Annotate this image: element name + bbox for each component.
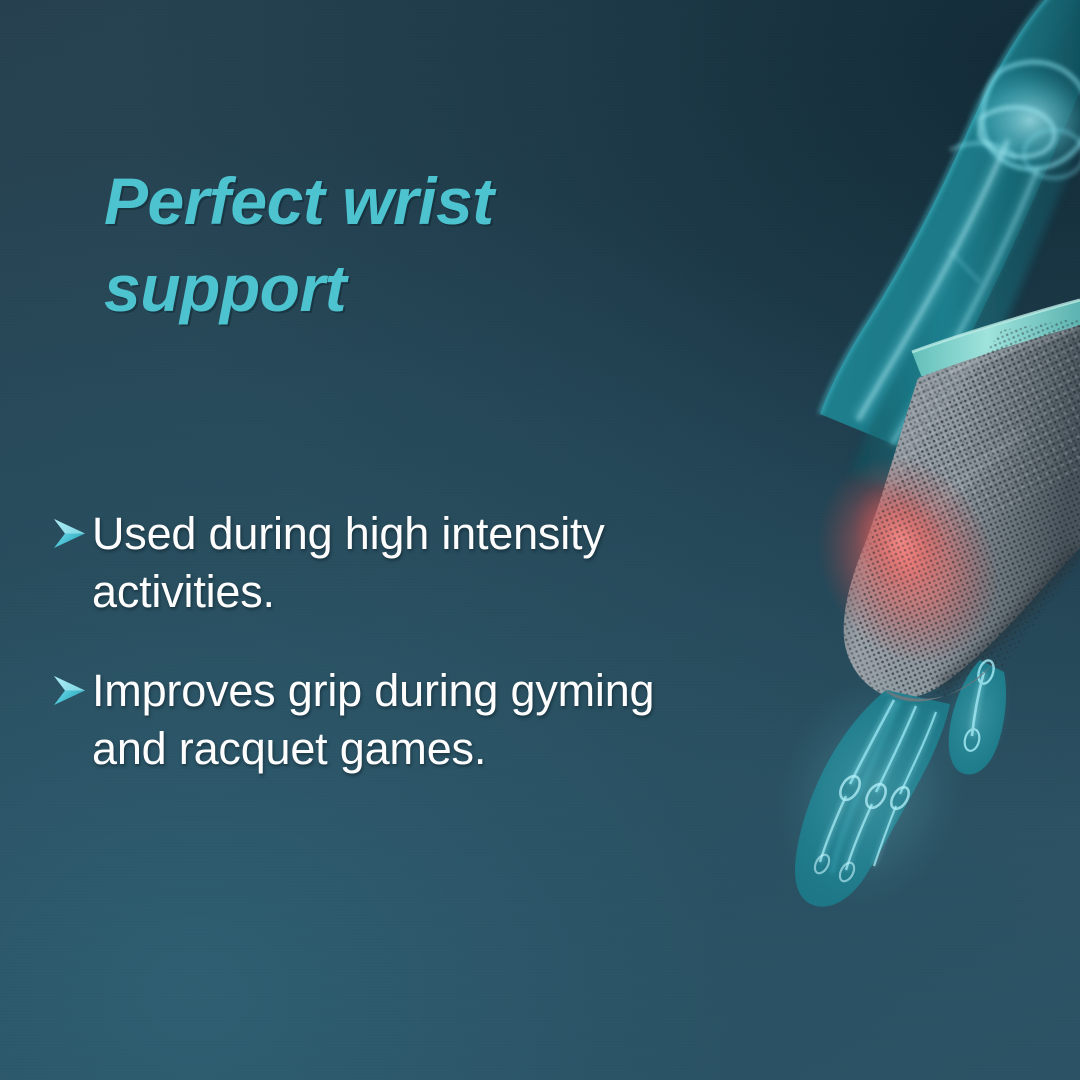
list-item: Improves grip during gyming and racquet … <box>52 662 692 777</box>
benefits-list: Used during high intensity activities. <box>52 505 692 819</box>
arrowhead-icon <box>52 674 92 708</box>
page-title-line-2: support <box>104 245 664 332</box>
forearm-bones <box>858 140 1038 444</box>
sleeve-knit-overlay <box>800 320 1080 720</box>
list-item-label: Used during high intensity activities. <box>92 505 692 620</box>
forearm-silhouette <box>820 0 1080 500</box>
sleeve-palm-edge <box>882 662 994 702</box>
pain-glow-marker <box>783 425 1032 695</box>
xray-arm-illustration <box>650 0 1080 1000</box>
sleeve-cuff-band <box>912 300 1080 388</box>
page-title: Perfect wrist support <box>104 158 664 332</box>
xray-thumb <box>930 648 1022 783</box>
elbow-joint-bones <box>950 62 1080 178</box>
poster-canvas: Perfect wrist support Used <box>0 0 1080 1080</box>
list-item: Used during high intensity activities. <box>52 505 692 620</box>
list-item-label: Improves grip during gyming and racquet … <box>92 662 692 777</box>
xray-hand <box>747 647 996 932</box>
wrist-support-sleeve <box>844 325 1080 698</box>
page-title-line-1: Perfect wrist <box>104 158 664 245</box>
arrowhead-icon <box>52 517 92 551</box>
